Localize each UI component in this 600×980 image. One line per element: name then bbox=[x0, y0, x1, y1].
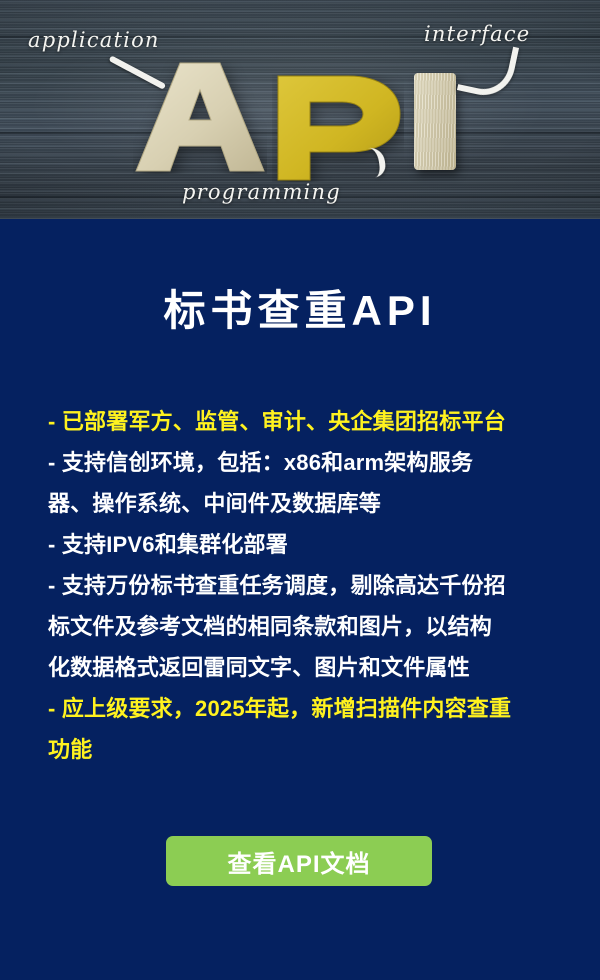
wooden-letter-i-icon bbox=[414, 73, 456, 170]
hero-image: application interface programming bbox=[0, 0, 600, 219]
list-item: 标文件及参考文档的相同条款和图片，以结构 bbox=[48, 606, 558, 647]
handwritten-label-application: application bbox=[28, 28, 160, 52]
handwritten-label-programming: programming bbox=[182, 180, 341, 204]
list-item: - 支持信创环境，包括：x86和arm架构服务 bbox=[48, 442, 558, 483]
feature-list: - 已部署军方、监管、审计、央企集团招标平台 - 支持信创环境，包括：x86和a… bbox=[48, 401, 558, 770]
main-content: 标书查重API - 已部署军方、监管、审计、央企集团招标平台 - 支持信创环境，… bbox=[0, 219, 600, 980]
view-api-docs-button[interactable]: 查看API文档 bbox=[166, 836, 432, 886]
list-item: 功能 bbox=[48, 729, 558, 770]
list-item: 化数据格式返回雷同文字、图片和文件属性 bbox=[48, 647, 558, 688]
list-item: - 支持IPV6和集群化部署 bbox=[48, 524, 558, 565]
list-item: - 应上级要求，2025年起，新增扫描件内容查重 bbox=[48, 688, 558, 729]
list-item: - 已部署军方、监管、审计、央企集团招标平台 bbox=[48, 401, 558, 442]
promo-page: application interface programming 标书查重AP… bbox=[0, 0, 600, 980]
list-item: 器、操作系统、中间件及数据库等 bbox=[48, 483, 558, 524]
list-item: - 支持万份标书查重任务调度，剔除高达千份招 bbox=[48, 565, 558, 606]
page-title: 标书查重API bbox=[0, 286, 600, 336]
